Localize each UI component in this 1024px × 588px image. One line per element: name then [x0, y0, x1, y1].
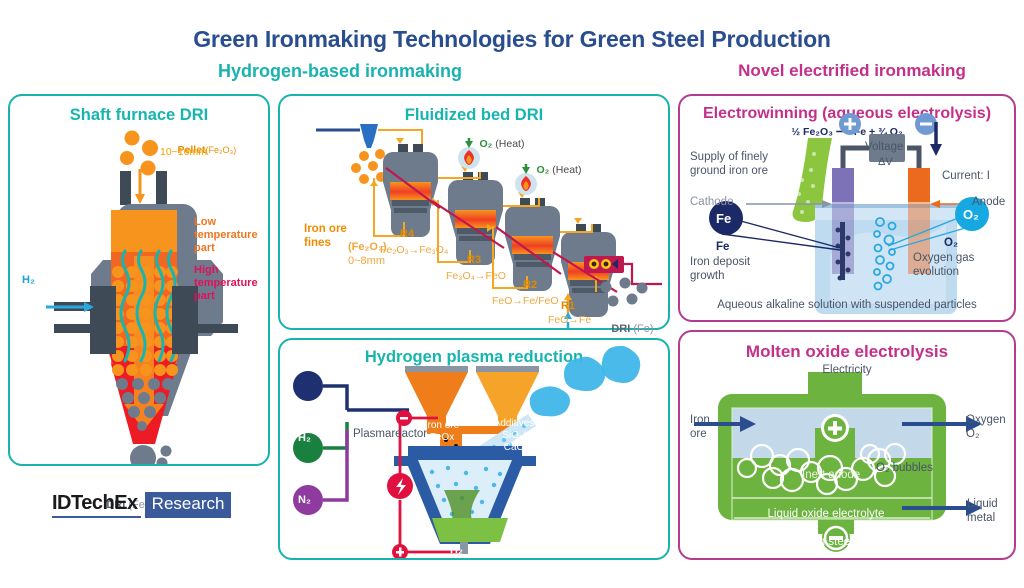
cathode-label: Cathode — [690, 196, 733, 210]
inert-anode-label: Inert anode — [802, 469, 860, 483]
gas-node-h2 — [293, 371, 323, 401]
fe-caption-desc: Iron deposit growth — [690, 256, 750, 283]
reactor-r2 — [505, 198, 560, 291]
o2-heat-label-1: O₂ (Heat) — [462, 126, 524, 163]
liquid-oxide-electrolyte-label: Liquid oxide electrolyte — [680, 508, 972, 522]
reactor-reaction-r2: FeO→Fe/FeO — [492, 295, 559, 307]
reactor-reaction-r3: Fe₃O₄→FeO — [446, 270, 506, 282]
panel-molten-oxide-electrolysis: Molten oxide electrolysis — [678, 330, 1016, 560]
o2-bubbles-label: O₂ bubbles — [876, 462, 933, 476]
panel-shaft-furnace-dri: Shaft furnace DRI — [8, 94, 270, 466]
reactor-label-r2: R2 — [523, 279, 537, 292]
oxygen-outlet-label: Oxygen O₂ — [966, 414, 1006, 441]
plasma-fe-label: Fe — [456, 574, 470, 588]
section-heading-hydrogen: Hydrogen-based ironmaking — [0, 61, 680, 82]
plasma-reduction-diagram — [280, 340, 668, 558]
hopper-additives-label: Additives SiO₂/ CaO — [486, 418, 542, 453]
plasma-gas-label-ar: Ar — [300, 546, 312, 559]
section-heading-electrified: Novel electrified ironmaking — [680, 61, 1024, 81]
page-title: Green Ironmaking Technologies for Green … — [0, 26, 1024, 53]
panel-electrowinning: Electrowinning (aqueous electrolysis) ½ … — [678, 94, 1016, 322]
o2-caption-bold: O₂ — [944, 237, 958, 251]
delta-v-label: ΔV — [878, 156, 893, 169]
reactor-r3 — [448, 172, 503, 265]
reactor-reaction-r4: Fe₂O₃→Fe₃O₄ — [380, 244, 448, 256]
plasma-h2-inner-label: H₂ — [450, 544, 463, 557]
o2-badge-label: O₂ — [963, 207, 979, 222]
fines-size-label: 0~8mm — [348, 255, 385, 268]
pellet-size-label: 10~16mm — [160, 146, 207, 158]
electricity-label: Electricity — [680, 364, 1014, 378]
steam-clouds — [530, 346, 641, 416]
fe-badge-label: Fe — [716, 211, 731, 226]
fe-caption-bold: Fe — [716, 241, 729, 255]
infographic-canvas: Green Ironmaking Technologies for Green … — [0, 0, 1024, 576]
hopper-iron-ore-label: Iron ore FeOx — [414, 420, 470, 444]
iron-ore-fines-label: Iron ore fines — [304, 223, 347, 250]
logo-product: Research — [145, 492, 232, 518]
shaft-dri-output — [10, 444, 268, 464]
reactor-label-r3: R3 — [467, 254, 481, 267]
supply-label: Supply of finely ground iron ore — [690, 151, 768, 178]
electrowinning-footer: Aqueous alkaline solution with suspended… — [680, 299, 1014, 313]
reactor-label-r1: R1 — [561, 300, 575, 313]
reactor-reaction-r1: FeO→Fe — [548, 314, 591, 326]
logo-name: IDTechEx — [52, 492, 141, 518]
shaft-h2-label: H₂ — [22, 274, 35, 287]
panel-hydrogen-plasma-reduction: Hydrogen plasma reduction — [278, 338, 670, 560]
o2-heat-label-2: O₂ (Heat) — [519, 152, 581, 189]
plasma-gas-label-h2: H₂ — [298, 432, 311, 445]
current-label: Current: I — [942, 170, 990, 184]
o2-caption-desc: Oxygen gas evolution — [913, 252, 974, 279]
panel-fluidized-bed-dri: Fluidized bed DRI — [278, 94, 670, 330]
iron-ore-inlet-label: Iron ore — [690, 414, 710, 441]
h2o-label: H₂O — [544, 420, 567, 434]
plasma-gas-label-n2: N₂ — [298, 494, 311, 507]
high-temperature-label: High temperature part — [194, 264, 258, 303]
voltage-label: Voltage — [865, 141, 903, 155]
molten-steel-label: Molten steel/Fe — [680, 536, 980, 550]
reactor-label-r4: R4 — [400, 228, 414, 241]
low-temperature-label: Low temperature part — [194, 216, 258, 255]
reactor-r4 — [383, 144, 438, 237]
idtechex-logo: IDTechEx Research — [52, 492, 231, 518]
